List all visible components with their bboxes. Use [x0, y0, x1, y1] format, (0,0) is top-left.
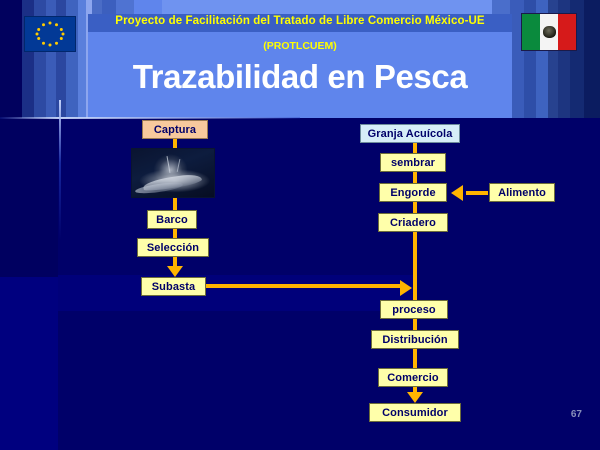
background-left-upper-panel	[0, 118, 58, 278]
node-criadero[interactable]: Criadero	[378, 213, 448, 232]
header-acronym: (PROTLCUEM)	[88, 38, 512, 54]
node-subasta[interactable]: Subasta	[141, 277, 206, 296]
node-proceso[interactable]: proceso	[380, 300, 448, 319]
node-consumidor[interactable]: Consumidor	[369, 403, 461, 422]
page-number: 67	[571, 409, 582, 420]
header-project-line: Proyecto de Facilitación del Tratado de …	[60, 12, 540, 30]
node-barco[interactable]: Barco	[147, 210, 197, 229]
connector-distribucion-comercio	[413, 349, 417, 368]
fishing-vessel-photo	[131, 148, 215, 198]
connector-alimento-engorde	[466, 191, 488, 195]
connector-criadero-proceso	[413, 232, 417, 301]
node-granja-acuicola[interactable]: Granja Acuícola	[360, 124, 460, 143]
decor-vertical-line	[59, 100, 61, 240]
arrow-comercio-consumidor	[407, 392, 423, 403]
arrow-subasta-proceso	[400, 280, 412, 296]
arrow-seleccion-subasta	[167, 266, 183, 277]
connector-subasta-proceso	[206, 284, 402, 288]
european-union-flag-icon	[24, 16, 76, 52]
node-distribucion[interactable]: Distribución	[371, 330, 459, 349]
background-band-strip	[58, 275, 413, 311]
node-captura[interactable]: Captura	[142, 120, 208, 139]
background-left-lower-panel	[0, 277, 58, 450]
slide-canvas: Proyecto de Facilitación del Tratado de …	[0, 0, 600, 450]
node-comercio[interactable]: Comercio	[378, 368, 448, 387]
node-seleccion[interactable]: Selección	[137, 238, 209, 257]
node-alimento[interactable]: Alimento	[489, 183, 555, 202]
mexico-flag-icon	[521, 13, 577, 51]
slide-header: Proyecto de Facilitación del Tratado de …	[0, 0, 600, 118]
decor-horizontal-line	[0, 117, 300, 119]
arrow-alimento-engorde	[451, 185, 463, 201]
node-engorde[interactable]: Engorde	[379, 183, 447, 202]
node-sembrar[interactable]: sembrar	[380, 153, 446, 172]
page-title: Trazabilidad en Pesca	[88, 54, 512, 100]
